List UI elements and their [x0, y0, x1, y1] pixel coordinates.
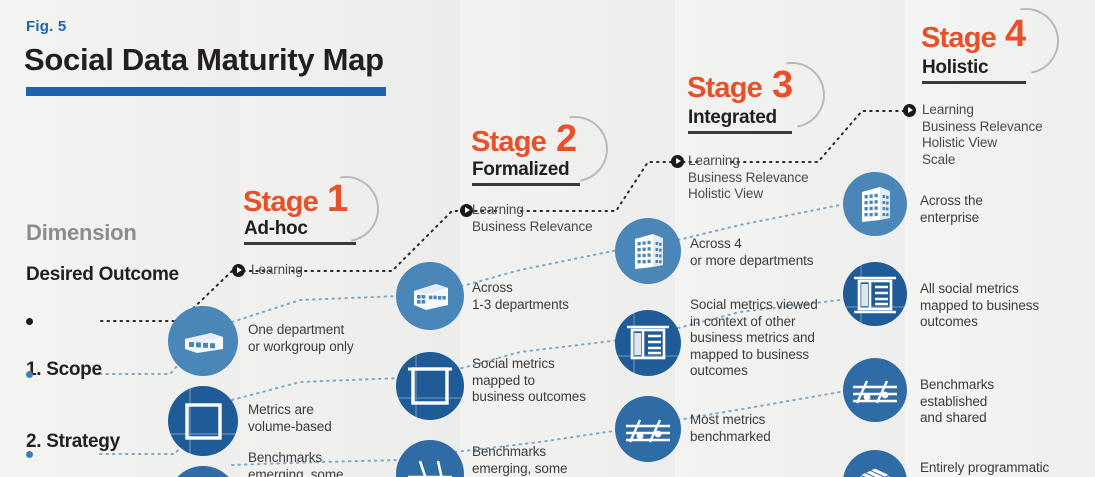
- stage-3-outcome-arrow-icon: [671, 155, 684, 168]
- stage-4-subtitle: Holistic: [922, 57, 988, 79]
- stage-3-word: Stage: [687, 72, 762, 105]
- dimension-heading: Dimension: [26, 220, 137, 246]
- stage-2-desired-outcome: Learning Business Relevance: [472, 202, 593, 235]
- stage-4-number: 4: [1005, 15, 1026, 53]
- stage-1-benchmark-caption: Benchmarks emerging, some: [248, 450, 343, 477]
- dimension-dot-desired-outcome: [26, 318, 33, 325]
- figure-label: Fig. 5: [26, 18, 66, 35]
- stage-1-outcome-arrow-icon: [232, 264, 245, 277]
- stage-4-desired-outcome: Learning Business Relevance Holistic Vie…: [922, 102, 1043, 168]
- stage-2-scope-caption: Across 1-3 departments: [472, 280, 569, 313]
- benchmark-lines-icon: [843, 358, 907, 422]
- stage-1-scope-caption: One department or workgroup only: [248, 322, 354, 355]
- stage-3-subtitle: Integrated: [688, 107, 777, 129]
- stage-3-rule: [688, 131, 792, 134]
- stage-4-outcome-arrow-icon: [903, 104, 916, 117]
- stage-4-scope-caption: Across the enterprise: [920, 193, 983, 226]
- mid-building-icon: [396, 262, 464, 330]
- stage-1-strategy-caption: Metrics are volume-based: [248, 402, 332, 435]
- stage-3-benchmark-caption: Most metrics benchmarked: [690, 412, 771, 445]
- tall-building-icon: [615, 218, 681, 284]
- stage-4-programmatic-caption: Entirely programmatic: [920, 460, 1049, 477]
- square-frame-icon: [168, 386, 238, 456]
- stage-1-word: Stage: [243, 186, 318, 219]
- dimension-row-scope: 1. Scope: [26, 359, 102, 381]
- dimension-dot-scope: [26, 371, 33, 378]
- title-underline-rule: [26, 87, 386, 96]
- stage-3-desired-outcome: Learning Business Relevance Holistic Vie…: [688, 153, 809, 203]
- page-title: Social Data Maturity Map: [24, 42, 384, 78]
- infographic-canvas: Fig. 5 Social Data Maturity Map Dimensio…: [0, 0, 1095, 477]
- tall-building-icon: [843, 172, 907, 236]
- low-building-icon: [168, 306, 238, 376]
- stage-2-subtitle: Formalized: [472, 159, 569, 181]
- stage-1-desired-outcome: Learning: [251, 262, 303, 279]
- stage-4-benchmark-caption: Benchmarks established and shared: [920, 377, 994, 427]
- stage-1-number: 1: [327, 180, 348, 218]
- dimension-row-strategy: 2. Strategy: [26, 431, 120, 453]
- square-frame-icon: [396, 352, 464, 420]
- stage-4-rule: [922, 81, 1026, 84]
- stage-2-strategy-caption: Social metrics mapped to business outcom…: [472, 356, 586, 406]
- dimension-row-desired-outcome: Desired Outcome: [26, 264, 179, 286]
- dashboard-frame-icon: [615, 310, 681, 376]
- stage-2-benchmark-caption: Benchmarks emerging, some: [472, 444, 567, 477]
- stage-3-scope-caption: Across 4 or more departments: [690, 236, 813, 269]
- benchmark-lines-icon: [615, 396, 681, 462]
- stage-1-subtitle: Ad-hoc: [244, 218, 308, 240]
- stage-3-strategy-caption: Social metrics viewed in context of othe…: [690, 297, 818, 380]
- dimension-dot-strategy: [26, 451, 33, 458]
- stage-4-strategy-caption: All social metrics mapped to business ou…: [920, 281, 1039, 331]
- stage-2-word: Stage: [471, 126, 546, 159]
- stage-2-number: 2: [556, 120, 577, 158]
- stage-4-word: Stage: [921, 22, 996, 55]
- stage-3-number: 3: [772, 66, 793, 104]
- stage-1-rule: [244, 242, 356, 245]
- stage-2-rule: [472, 183, 580, 186]
- dashboard-frame-icon: [843, 262, 907, 326]
